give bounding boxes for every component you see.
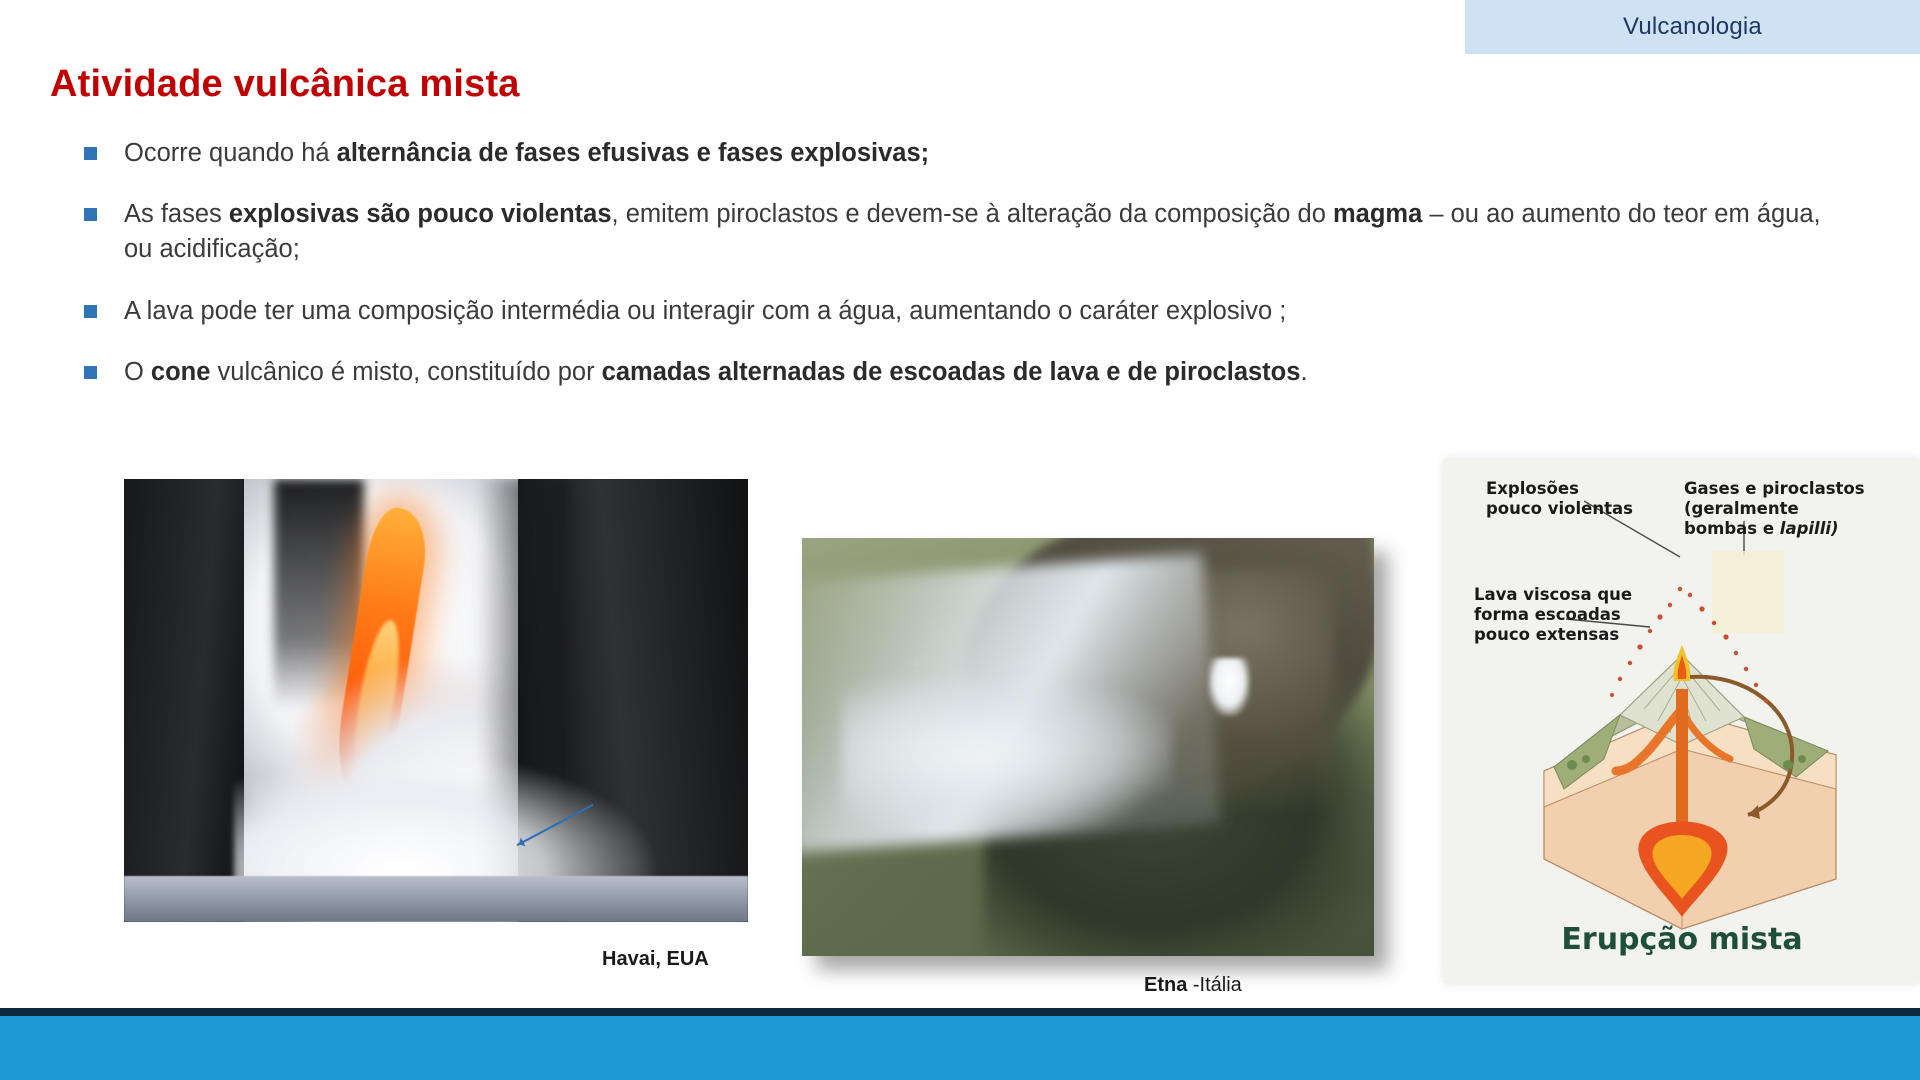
text-run: A lava pode ter uma composição intermédi… (124, 297, 1286, 325)
text-run-bold: cone (151, 358, 211, 386)
label-explosions: Explosões pouco violentas (1486, 479, 1633, 519)
text-run-bold: explosivas são pouco violentas (229, 200, 612, 228)
bullet-square-icon (84, 147, 97, 160)
footer-bar (0, 1016, 1920, 1080)
steam-plume-secondary (842, 678, 1172, 828)
diagram-content: Explosões pouco violentas Gases e pirocl… (1444, 459, 1920, 983)
bullet-text-2: As fases explosivas são pouco violentas,… (124, 197, 1824, 267)
subject-tag-label: Vulcanologia (1623, 13, 1762, 41)
label-explosions-line1: Explosões (1486, 479, 1633, 499)
bullet-text-4: O cone vulcânico é misto, constituído po… (124, 355, 1308, 390)
label-gases-line3-pre: bombas e (1684, 519, 1780, 538)
mixed-eruption-diagram: Explosões pouco violentas Gases e pirocl… (1444, 459, 1920, 983)
label-gases-line1: Gases e piroclastos (1684, 479, 1865, 499)
text-run: . (1300, 358, 1307, 386)
subject-tag: Vulcanologia (1465, 0, 1920, 54)
text-run: O (124, 358, 151, 386)
list-item: A lava pode ter uma composição intermédi… (84, 294, 1844, 329)
label-gases-line2: (geralmente (1684, 499, 1865, 519)
etna-eruption-aerial-photo (802, 538, 1374, 956)
bullet-square-icon (84, 208, 97, 221)
label-gases: Gases e piroclastos (geralmente bombas e… (1684, 479, 1865, 538)
text-run: , emitem piroclastos e devem-se à altera… (612, 200, 1333, 228)
label-explosions-line2: pouco violentas (1486, 499, 1633, 519)
text-run-bold: camadas alternadas de escoadas de lava e… (602, 358, 1301, 386)
lava-entering-ocean-photo (124, 479, 748, 922)
label-lava: Lava viscosa que forma escoadas pouco ex… (1474, 585, 1632, 644)
diagram-title: Erupção mista (1444, 922, 1920, 957)
caption-etna-bold: Etna (1144, 974, 1187, 996)
caption-etna: Etna -Itália (1144, 974, 1242, 997)
label-lava-line1: Lava viscosa que (1474, 585, 1632, 605)
text-run-bold: magma (1333, 200, 1422, 228)
page-title: Atividade vulcânica mista (50, 63, 520, 106)
vent-steam (1208, 658, 1250, 716)
bullet-square-icon (84, 366, 97, 379)
label-gases-line3: bombas e lapilli) (1684, 519, 1865, 539)
text-run: vulcânico é misto, constituído por (210, 358, 601, 386)
eruption-cloud-box (1712, 551, 1784, 633)
ocean-water (124, 876, 748, 922)
photo-content (802, 538, 1374, 956)
cliff-left (124, 479, 244, 922)
photo-content (124, 479, 748, 922)
bullet-text-3: A lava pode ter uma composição intermédi… (124, 294, 1286, 329)
caption-hawaii: Havai, EUA (602, 948, 709, 971)
label-lava-line3: pouco extensas (1474, 625, 1632, 645)
list-item: Ocorre quando há alternância de fases ef… (84, 136, 1844, 171)
bullet-text-1: Ocorre quando há alternância de fases ef… (124, 136, 929, 171)
caption-hawaii-bold: Havai, EUA (602, 948, 709, 970)
bullet-list: Ocorre quando há alternância de fases ef… (84, 136, 1844, 416)
list-item: O cone vulcânico é misto, constituído po… (84, 355, 1844, 390)
text-run-bold: alternância de fases efusivas e fases ex… (337, 139, 930, 167)
label-gases-line3-italic: lapilli) (1780, 519, 1839, 538)
bullet-square-icon (84, 305, 97, 318)
label-lava-line2: forma escoadas (1474, 605, 1632, 625)
text-run: Ocorre quando há (124, 139, 337, 167)
caption-etna-rest: -Itália (1187, 974, 1241, 996)
list-item: As fases explosivas são pouco violentas,… (84, 197, 1844, 267)
footer-accent-bar (0, 1008, 1920, 1016)
text-run: As fases (124, 200, 229, 228)
